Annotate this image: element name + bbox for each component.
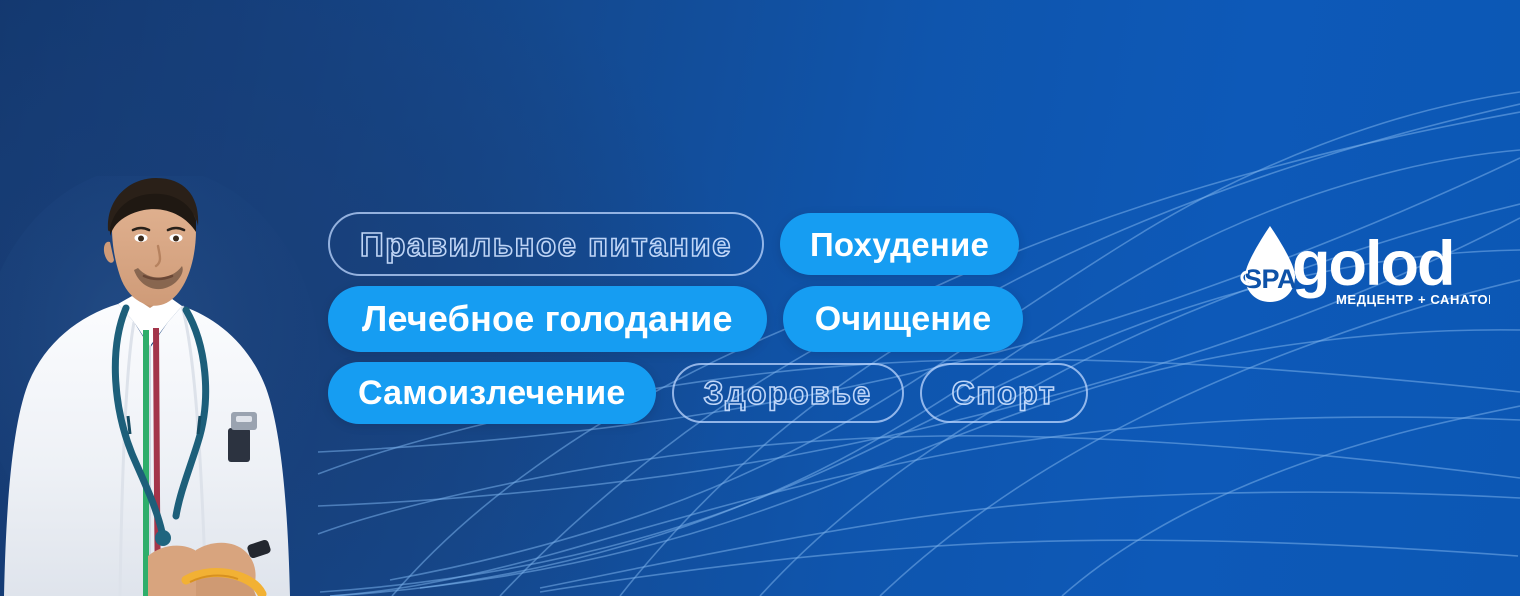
tag-zdorovie[interactable]: Здоровье [672,363,904,423]
logo-wordmark: golod [1292,229,1453,299]
tag-lechebnoe-golodanie[interactable]: Лечебное голодание [328,286,767,352]
tag-row-2: Лечебное голодание Очищение [328,286,1208,352]
tag-pohudenie[interactable]: Похудение [780,213,1019,275]
tag-row-3: Самоизлечение Здоровье Спорт [328,362,1208,424]
tag-list: Правильное питание Похудение Лечебное го… [328,212,1208,424]
tag-pravilnoe-pitanie[interactable]: Правильное питание [328,212,764,276]
tag-samoizlechenie[interactable]: Самоизлечение [328,362,656,424]
tag-sport[interactable]: Спорт [920,363,1088,423]
logo-spa-text: SPA [1244,264,1296,294]
promo-banner: Правильное питание Похудение Лечебное го… [0,0,1520,596]
doctor-photo [0,176,330,596]
tag-row-1: Правильное питание Похудение [328,212,1208,276]
brand-logo[interactable]: SPA golod МЕДЦЕНТР + САНАТОРИЙ [1232,222,1490,314]
tag-ochishchenie[interactable]: Очищение [783,286,1024,352]
logo-tagline: МЕДЦЕНТР + САНАТОРИЙ [1336,292,1490,307]
